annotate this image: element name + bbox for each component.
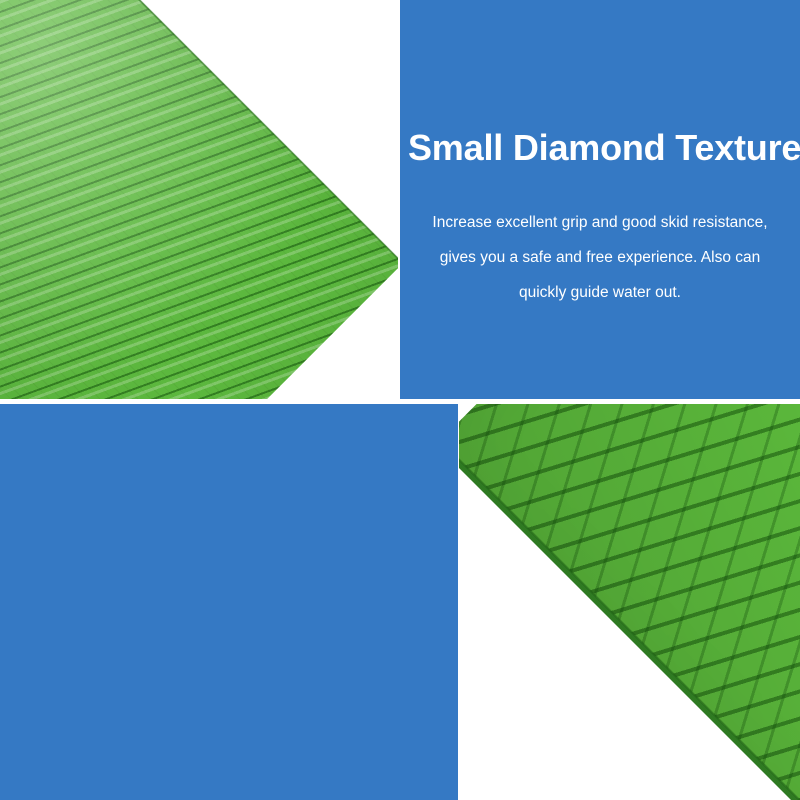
texture-description-line-2: gives you a safe and free experience. Al… [426, 240, 774, 275]
texture-description-line-3: quickly guide water out. [426, 275, 774, 310]
mat-texture-photo-panel [0, 0, 398, 400]
texture-copy-panel: Small Diamond Texture Increase excellent… [400, 0, 800, 400]
product-feature-infographic: Small Diamond Texture Increase excellent… [0, 0, 800, 800]
yoga-mat-small-texture-image [0, 0, 398, 400]
zigzag-texture-pattern [459, 404, 800, 800]
thickness-copy-panel: 5mm Thickness Good cushioning, reduce yo… [0, 404, 458, 800]
mat-thickness-photo-panel [459, 404, 800, 800]
texture-heading: Small Diamond Texture [408, 126, 792, 170]
diamond-texture-highlight [0, 0, 398, 400]
texture-description-line-1: Increase excellent grip and good skid re… [426, 205, 774, 240]
yoga-mat-thickness-image [459, 404, 800, 800]
texture-description: Increase excellent grip and good skid re… [426, 205, 774, 310]
